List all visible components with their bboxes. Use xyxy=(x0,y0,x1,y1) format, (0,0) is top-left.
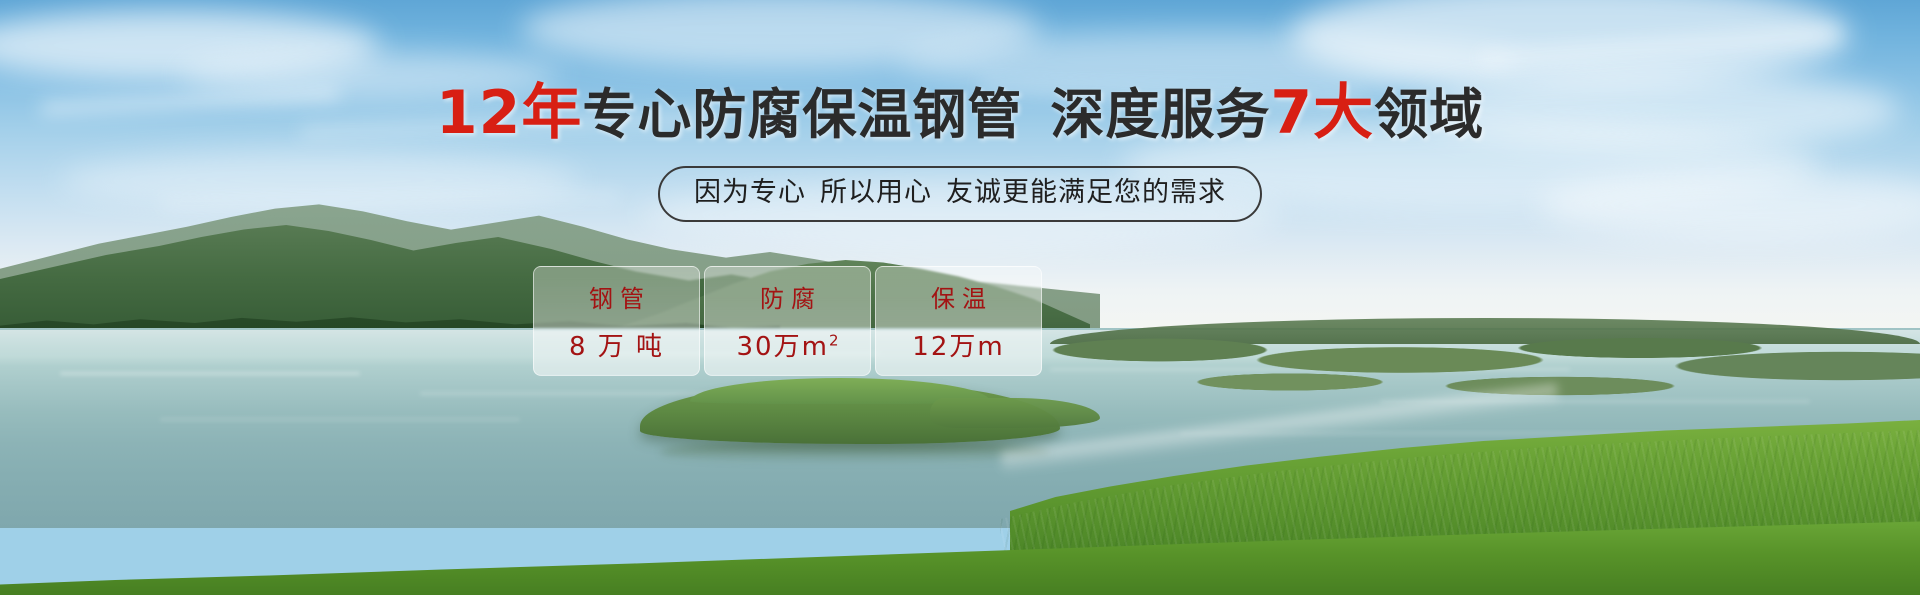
headline: 12年专心防腐保温钢管深度服务7大领域 xyxy=(0,82,1920,146)
stat-card-label: 保温 xyxy=(924,279,993,314)
subtitle-pill: 因为专心所以用心友诚更能满足您的需求 xyxy=(658,166,1262,222)
stat-value-text: 12万m xyxy=(912,332,1004,362)
headline-text-3: 领域 xyxy=(1374,83,1484,146)
headline-text-1: 专心防腐保温钢管 xyxy=(582,83,1022,146)
stat-card-value: 8 万 吨 xyxy=(569,326,664,363)
headline-text-2: 深度服务 xyxy=(1050,83,1270,146)
subtitle-segment-1: 因为专心 xyxy=(694,177,806,208)
subtitle-segment-2: 所以用心 xyxy=(820,177,932,208)
stat-card-insulation[interactable]: 保温 12万m xyxy=(875,266,1042,376)
stat-card-value: 12万m xyxy=(912,326,1004,363)
stat-card-label: 钢管 xyxy=(582,279,651,314)
stat-card-steel-pipe[interactable]: 钢管 8 万 吨 xyxy=(533,266,700,376)
stat-value-text: 30万m xyxy=(737,332,829,362)
stat-value-superscript: 2 xyxy=(829,331,839,349)
stat-value-text: 8 万 吨 xyxy=(569,332,664,362)
stat-card-group: 钢管 8 万 吨 防腐 30万m2 保温 12万m xyxy=(533,266,1042,376)
subtitle-segment-3: 友诚更能满足您的需求 xyxy=(946,177,1226,208)
headline-years: 12年 xyxy=(436,78,583,148)
banner-content: 12年专心防腐保温钢管深度服务7大领域 因为专心所以用心友诚更能满足您的需求 钢… xyxy=(0,0,1920,595)
stat-card-label: 防腐 xyxy=(753,279,822,314)
promo-banner: 12年专心防腐保温钢管深度服务7大领域 因为专心所以用心友诚更能满足您的需求 钢… xyxy=(0,0,1920,595)
headline-fields-count: 7大 xyxy=(1270,78,1374,148)
stat-card-value: 30万m2 xyxy=(737,326,839,363)
stat-card-anticorrosion[interactable]: 防腐 30万m2 xyxy=(704,266,871,376)
